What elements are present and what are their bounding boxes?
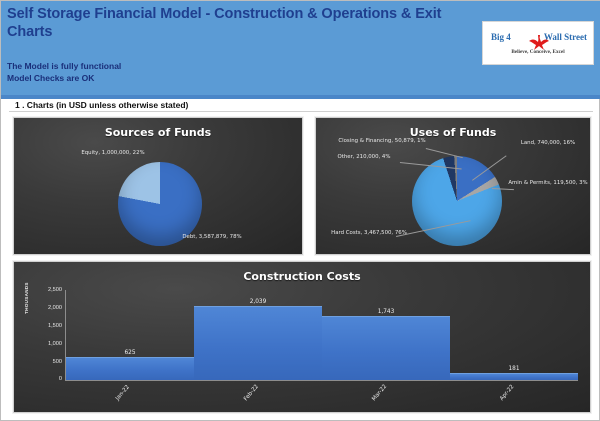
pie-uses — [412, 156, 502, 246]
section-title: 1 . Charts (in USD unless otherwise stat… — [15, 100, 188, 110]
model-status-notes: The Model is fully functional Model Chec… — [7, 60, 307, 84]
page-title: Self Storage Financial Model - Construct… — [7, 5, 477, 41]
pie-label-other: Other, 210,000, 4% — [322, 154, 406, 161]
chart-uses-of-funds[interactable]: Uses of Funds Closing & Financing, 50,87… — [315, 117, 591, 255]
bar-mar-22[interactable] — [322, 316, 450, 380]
bar-feb-22[interactable] — [194, 306, 322, 380]
pie-label-debt: Debt, 3,587,879, 78% — [164, 234, 260, 241]
y-tick-0: 0 — [32, 376, 62, 382]
section-rule — [1, 95, 600, 99]
chart-title-sources: Sources of Funds — [14, 126, 302, 139]
x-label-jan-22: Jan-22 — [115, 384, 131, 401]
bar-value-mar-22: 1,743 — [322, 309, 450, 315]
x-label-apr-22: Apr-22 — [499, 384, 515, 402]
status-line-functional: The Model is fully functional — [7, 60, 307, 72]
pie-label-equity: Equity, 1,000,000, 22% — [68, 150, 158, 157]
y-axis-ticks: 2,500 2,000 1,500 1,000 500 0 — [28, 290, 62, 380]
pie-label-amin-permits: Amin & Permits, 119,500, 3% — [506, 180, 590, 187]
y-tick-1000: 1,000 — [32, 341, 62, 347]
section-underline — [9, 111, 593, 112]
logo-text-left: Big 4 — [491, 32, 511, 42]
x-label-mar-22: Mar-22 — [371, 384, 388, 403]
chart-sources-of-funds[interactable]: Sources of Funds Equity, 1,000,000, 22% … — [13, 117, 303, 255]
y-tick-2500: 2,500 — [32, 287, 62, 293]
chart-title-construction: Construction Costs — [14, 270, 590, 283]
y-tick-2000: 2,000 — [32, 305, 62, 311]
bar-value-feb-22: 2,039 — [194, 299, 322, 305]
bar-value-apr-22: 181 — [450, 366, 578, 372]
y-tick-1500: 1,500 — [32, 323, 62, 329]
bar-jan-22[interactable] — [66, 357, 194, 381]
pie-label-closing-financing: Closing & Financing, 50,879, 1% — [334, 138, 430, 145]
x-label-feb-22: Feb-22 — [243, 384, 260, 402]
bar-apr-22[interactable] — [450, 373, 578, 381]
x-axis-line — [65, 380, 578, 381]
bar-value-jan-22: 625 — [66, 350, 194, 356]
y-tick-500: 500 — [32, 359, 62, 365]
pie-label-land: Land, 740,000, 16% — [510, 140, 586, 147]
brand-logo: Big 4 Wall Street Believe, Conceive, Exc… — [482, 21, 594, 65]
chart-construction-costs[interactable]: Construction Costs THOUSANDS 2,500 2,000… — [13, 261, 591, 413]
logo-wordmark: Big 4 Wall Street — [483, 30, 593, 48]
status-line-checks: Model Checks are OK — [7, 72, 307, 84]
logo-tagline: Believe, Conceive, Excel — [483, 49, 593, 55]
